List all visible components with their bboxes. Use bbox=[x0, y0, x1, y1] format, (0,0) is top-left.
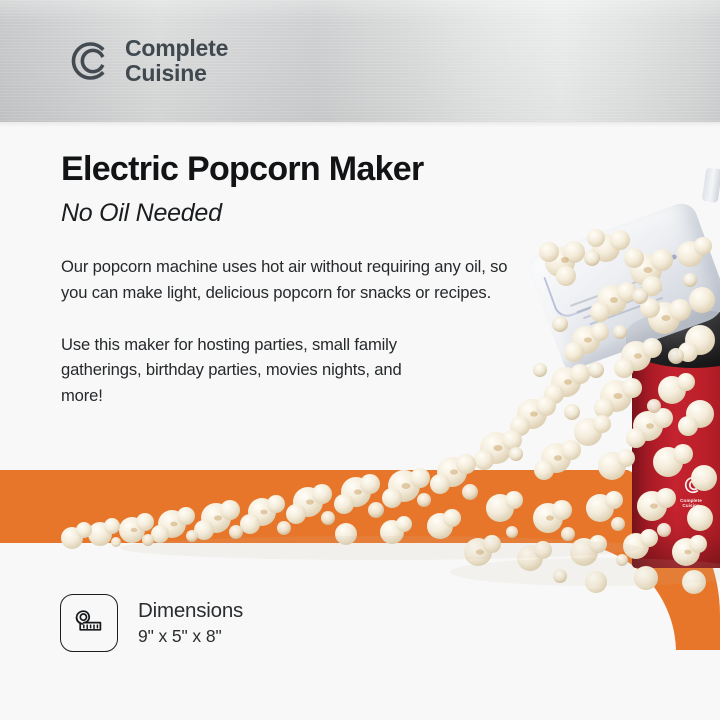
description-paragraph-1: Our popcorn machine uses hot air without… bbox=[61, 254, 513, 305]
chute-indicator-dot bbox=[629, 262, 635, 268]
product-feature-card: Complete Cuisine Complete Cuisine bbox=[0, 0, 720, 720]
header-shadow bbox=[0, 122, 720, 127]
product-badge-line2: Cuisine bbox=[682, 503, 699, 508]
dimensions-label: Dimensions bbox=[138, 599, 243, 623]
page-subtitle: No Oil Needed bbox=[61, 198, 531, 228]
product-image: Complete Cuisine bbox=[540, 168, 720, 568]
popcorn-maker-body bbox=[632, 338, 720, 568]
product-badge-text: Complete Cuisine bbox=[680, 498, 702, 509]
brand-lockup: Complete Cuisine bbox=[62, 36, 228, 86]
copy-block: Electric Popcorn Maker No Oil Needed Our… bbox=[61, 150, 531, 409]
brand-name-line1: Complete bbox=[125, 36, 228, 61]
product-brand-badge: Complete Cuisine bbox=[668, 468, 714, 514]
product-badge-line1: Complete bbox=[680, 498, 702, 503]
dimensions-text: Dimensions 9" x 5" x 8" bbox=[138, 599, 243, 647]
dimensions-value: 9" x 5" x 8" bbox=[138, 626, 243, 647]
chute-indicator-dot bbox=[671, 254, 677, 260]
popcorn-maker-lid-handle bbox=[702, 167, 720, 203]
double-c-circle-logo-icon bbox=[62, 36, 112, 86]
chute-indicator-dot bbox=[643, 260, 649, 266]
tape-measure-icon bbox=[60, 594, 118, 652]
page-title: Electric Popcorn Maker bbox=[61, 150, 531, 188]
description-paragraph-2: Use this maker for hosting parties, smal… bbox=[61, 332, 441, 409]
brand-name-line2: Cuisine bbox=[125, 61, 228, 86]
dimensions-spec: Dimensions 9" x 5" x 8" bbox=[60, 594, 243, 652]
brand-name: Complete Cuisine bbox=[125, 36, 228, 85]
chute-indicator-dot bbox=[657, 257, 663, 263]
